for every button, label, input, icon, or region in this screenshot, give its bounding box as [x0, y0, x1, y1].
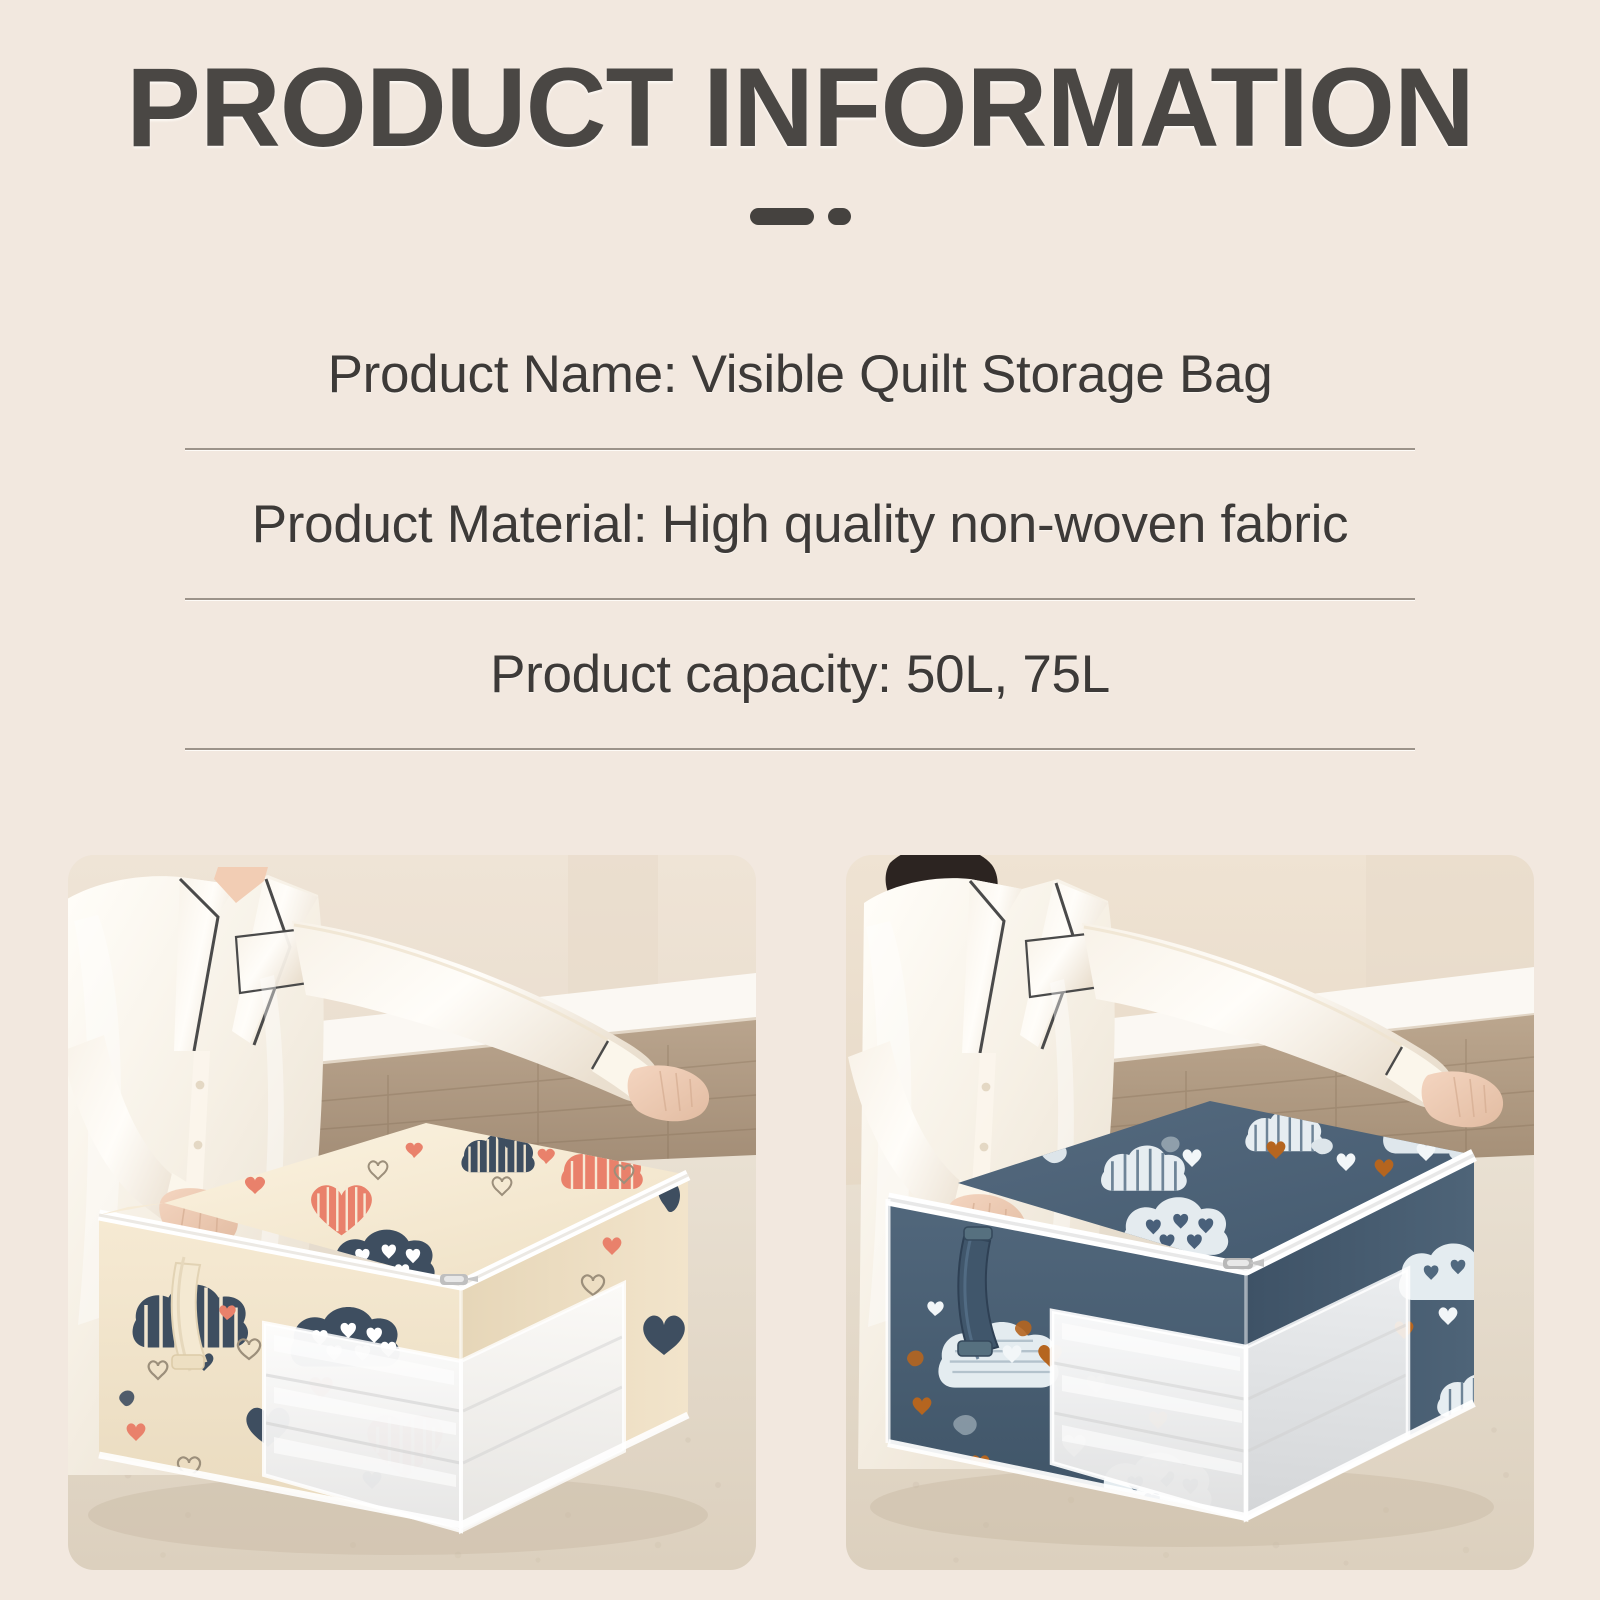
spec-text-product-capacity: Product capacity: 50L, 75L — [490, 644, 1110, 705]
product-photo-grid — [68, 855, 1535, 1570]
accent-dash-short-icon — [828, 208, 851, 225]
spec-text-product-material: Product Material: High quality non-woven… — [252, 494, 1349, 555]
product-photo-navy-bag[interactable] — [846, 855, 1534, 1570]
title-accent-divider — [0, 208, 1600, 225]
page-title: PRODUCT INFORMATION — [0, 52, 1600, 164]
product-photo-beige-bag[interactable] — [68, 855, 756, 1570]
spec-row-product-name: Product Name: Visible Quilt Storage Bag — [185, 300, 1415, 448]
spec-divider-3 — [185, 748, 1415, 750]
product-spec-list: Product Name: Visible Quilt Storage Bag … — [185, 300, 1415, 750]
spec-text-product-name: Product Name: Visible Quilt Storage Bag — [328, 344, 1273, 405]
navy-bag-illustration — [846, 855, 1534, 1570]
accent-dash-long-icon — [750, 208, 814, 225]
spec-row-product-material: Product Material: High quality non-woven… — [185, 450, 1415, 598]
spec-row-product-capacity: Product capacity: 50L, 75L — [185, 600, 1415, 748]
beige-bag-illustration — [68, 855, 756, 1570]
